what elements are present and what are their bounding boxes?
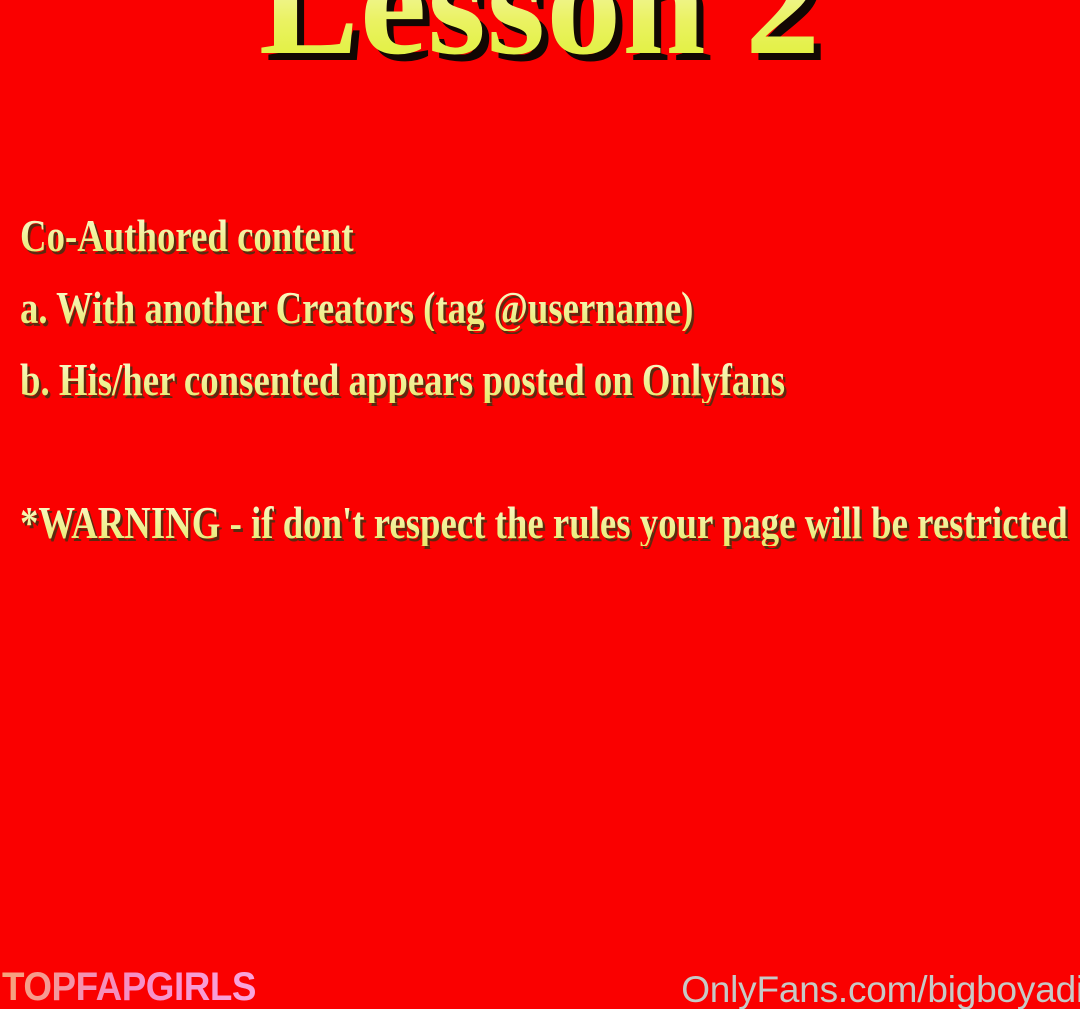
slide-title-container: Lesson 2 (0, 0, 1080, 78)
content-heading: Co-Authored content (20, 213, 354, 259)
site-watermark: TOPFAPGIRLS (2, 967, 256, 1007)
slide-canvas: Lesson 2 Co-Authored content a. With ano… (0, 0, 1080, 1009)
warning-text: *WARNING - if don't respect the rules yo… (20, 500, 1068, 546)
page-title: Lesson 2 (259, 0, 821, 78)
list-item-a: a. With another Creators (tag @username) (20, 285, 693, 331)
list-item-b: b. His/her consented appears posted on O… (20, 357, 785, 403)
profile-url-watermark: OnlyFans.com/bigboyadi (681, 970, 1080, 1009)
